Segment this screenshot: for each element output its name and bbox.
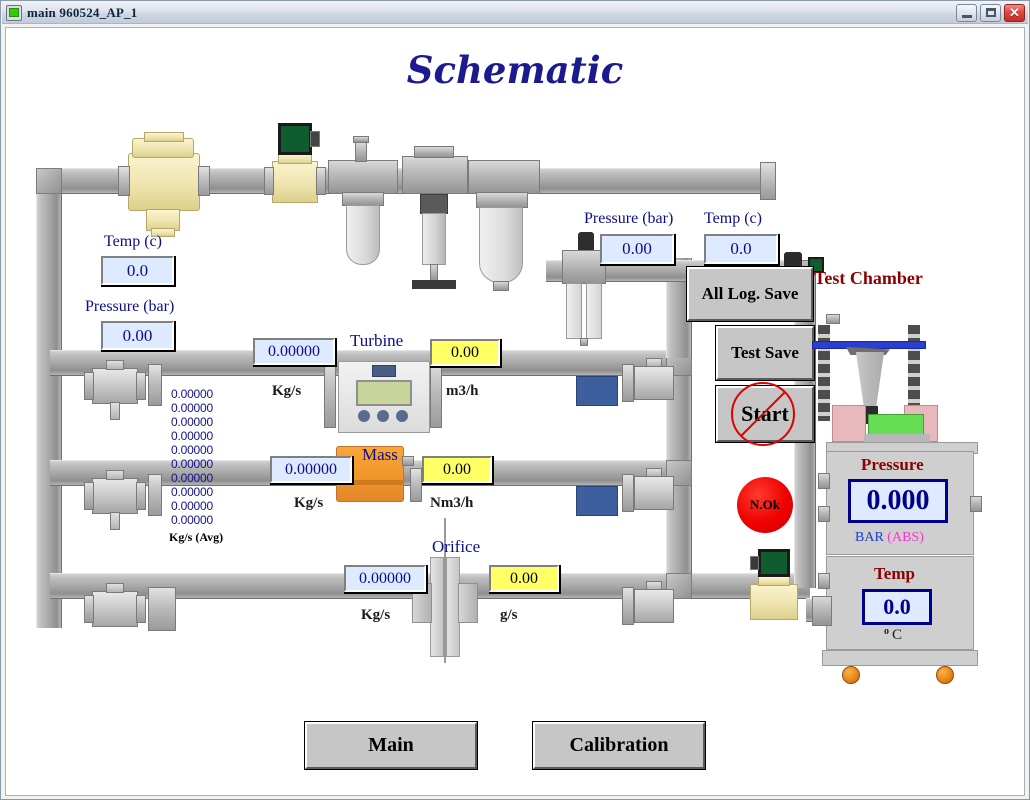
- mass-mass-flow-value[interactable]: 0.00000: [270, 456, 352, 483]
- frl-drain: [580, 338, 588, 346]
- avg-column-caption: Kg/s (Avg): [169, 530, 223, 545]
- flange-solenoid-1-right: [316, 167, 326, 195]
- solenoid-valve-1-connector: [310, 131, 320, 147]
- close-icon: ✕: [1005, 5, 1024, 21]
- chamber-wheel-right: [936, 666, 954, 684]
- chamber-temp-unit: o C: [884, 626, 902, 644]
- mass-flow-meter-connector: [402, 456, 414, 466]
- turbine-meter-button-3[interactable]: [396, 410, 408, 422]
- chamber-temp-value[interactable]: 0.0: [862, 589, 932, 625]
- regulator-2-knob: [414, 146, 454, 158]
- schematic-canvas: Schematic: [5, 27, 1025, 796]
- filter-1-collar: [342, 192, 384, 206]
- sensor-mass-outlet: [576, 486, 618, 516]
- avg-value: 0.00000: [171, 513, 213, 527]
- filter-3-bowl: [479, 207, 523, 283]
- solenoid-valve-1-coil: [278, 123, 312, 155]
- regulator-cap: [144, 132, 184, 142]
- orifice-left-unit: Kg/s: [361, 607, 390, 624]
- window-controls: ✕: [956, 4, 1025, 22]
- chamber-lug-left-1: [818, 473, 830, 489]
- turbine-meter-button-2[interactable]: [377, 410, 389, 422]
- status-badge: N.Ok: [750, 497, 780, 513]
- chamber-post-cap-left: [826, 314, 840, 324]
- mass-label: Mass: [362, 445, 398, 465]
- flange-turbine-in-2: [148, 364, 162, 406]
- chamber-lug-left-3: [818, 573, 830, 589]
- flange-turbine-left: [324, 358, 336, 428]
- regulator-2-head: [402, 156, 468, 194]
- frl-bowl-right: [586, 283, 602, 339]
- chamber-inlet-lug: [812, 596, 832, 626]
- regulator-2-collar: [420, 194, 448, 214]
- avg-value: 0.00000: [171, 443, 213, 457]
- orifice-flange-left: [430, 557, 444, 657]
- chamber-temp-unit-degree: o: [884, 626, 889, 637]
- orifice-label: Orifice: [432, 537, 480, 557]
- chamber-seat: [868, 414, 924, 436]
- filter-3-drain: [493, 281, 509, 291]
- turbine-volume-flow-value[interactable]: 0.00: [430, 339, 500, 366]
- filter-1-gauge-stem: [355, 142, 367, 162]
- avg-value: 0.00000: [171, 471, 213, 485]
- avg-value: 0.00000: [171, 429, 213, 443]
- regulator-2-bowl: [422, 213, 446, 265]
- solenoid-valve-2-coil: [784, 252, 802, 268]
- status-indicator: N.Ok: [737, 477, 793, 533]
- filter-1-head: [328, 160, 398, 194]
- avg-value: 0.00000: [171, 415, 213, 429]
- maximize-button[interactable]: [980, 4, 1001, 22]
- chamber-pressure-value[interactable]: 0.000: [848, 479, 948, 523]
- turbine-left-unit: Kg/s: [272, 383, 301, 400]
- chamber-pressure-unit: BAR (ABS): [855, 530, 924, 546]
- regulator-body: [128, 153, 200, 211]
- turbine-meter-display: [356, 380, 412, 406]
- flange-solenoid-1-left: [264, 167, 274, 195]
- app-icon: [6, 5, 22, 21]
- close-button[interactable]: ✕: [1004, 4, 1025, 22]
- avg-value: 0.00000: [171, 485, 213, 499]
- chamber-lug-left-2: [818, 506, 830, 522]
- filter-3-collar: [476, 192, 528, 208]
- chamber-wheel-left: [842, 666, 860, 684]
- avg-value: 0.00000: [171, 401, 213, 415]
- turbine-meter-terminal: [372, 365, 396, 377]
- frl-bowl-left: [566, 283, 582, 339]
- top-pressure-label: Pressure (bar): [584, 210, 673, 228]
- mass-volume-flow-value[interactable]: 0.00: [422, 456, 492, 483]
- filter-1-gauge-cap: [353, 136, 369, 143]
- minimize-button[interactable]: [956, 4, 977, 22]
- left-temp-value[interactable]: 0.0: [101, 256, 174, 285]
- flange-regulator-left: [118, 166, 130, 196]
- flange-turbine-right: [430, 358, 442, 428]
- orifice-mass-flow-value[interactable]: 0.00000: [344, 565, 426, 592]
- top-pressure-value[interactable]: 0.00: [600, 234, 674, 264]
- pipe-left-riser: [36, 178, 62, 628]
- flange-top-right: [760, 162, 776, 200]
- chamber-crossbeam: [812, 341, 926, 349]
- avg-value: 0.00000: [171, 457, 213, 471]
- start-button[interactable]: Start: [716, 386, 814, 442]
- flange-mass-right: [410, 468, 422, 502]
- turbine-meter-button-1[interactable]: [358, 410, 370, 422]
- mass-right-unit: Nm3/h: [430, 495, 473, 512]
- solenoid-valve-3-coil: [758, 549, 790, 577]
- chamber-pressure-label: Pressure: [861, 455, 924, 475]
- flange-mass-in-2: [148, 474, 162, 516]
- chamber-post-left: [818, 325, 830, 421]
- regulator-2-drain-handle: [412, 280, 456, 289]
- orifice-taper-right: [458, 583, 478, 623]
- filter-1-bowl: [346, 205, 380, 265]
- turbine-right-unit: m3/h: [446, 383, 479, 400]
- test-save-button[interactable]: Test Save: [716, 326, 814, 380]
- left-temp-label: Temp (c): [104, 233, 162, 251]
- avg-value: 0.00000: [171, 387, 213, 401]
- top-temp-label: Temp (c): [704, 210, 762, 228]
- flange-orifice-in-2: [148, 587, 176, 631]
- test-chamber-title: Test Chamber: [814, 268, 923, 289]
- filter-3-head: [468, 160, 540, 194]
- chamber-cart-frame: [822, 650, 978, 666]
- mass-left-unit: Kg/s: [294, 495, 323, 512]
- solenoid-valve-1-body: [272, 161, 318, 203]
- main-button[interactable]: Main: [305, 722, 477, 769]
- top-temp-value[interactable]: 0.0: [704, 234, 778, 264]
- turbine-label: Turbine: [350, 331, 403, 351]
- chamber-temp-unit-c: C: [892, 627, 902, 643]
- frl-knob: [578, 232, 594, 250]
- solenoid-valve-1-neck: [278, 154, 312, 164]
- application-window: main 960524_AP_1 ✕ Schematic: [0, 0, 1030, 800]
- chamber-temp-label: Temp: [874, 564, 915, 584]
- chamber-clamp-left: [832, 405, 866, 442]
- left-pressure-label: Pressure (bar): [85, 298, 174, 316]
- title-bar: main 960524_AP_1 ✕: [2, 2, 1028, 24]
- orifice-volume-flow-value[interactable]: 0.00: [489, 565, 559, 592]
- elbow-top-left: [36, 168, 62, 194]
- solenoid-valve-3-body: [750, 584, 798, 620]
- sensor-turbine-outlet: [576, 376, 618, 406]
- solenoid-valve-3-connector: [750, 556, 759, 570]
- chamber-pressure-unit-abs: (ABS): [887, 530, 924, 545]
- calibration-button[interactable]: Calibration: [533, 722, 705, 769]
- window-title: main 960524_AP_1: [27, 5, 137, 21]
- avg-value: 0.00000: [171, 499, 213, 513]
- chamber-lug-right-1: [970, 496, 982, 512]
- chamber-pressure-unit-bar: BAR: [855, 530, 884, 545]
- all-log-save-button[interactable]: All Log. Save: [687, 267, 813, 321]
- solenoid-valve-3-neck: [758, 576, 790, 586]
- flange-regulator-right: [198, 166, 210, 196]
- page-title: Schematic: [6, 48, 1024, 92]
- left-pressure-value[interactable]: 0.00: [101, 321, 174, 350]
- orifice-right-unit: g/s: [500, 607, 518, 624]
- turbine-mass-flow-value[interactable]: 0.00000: [253, 338, 335, 365]
